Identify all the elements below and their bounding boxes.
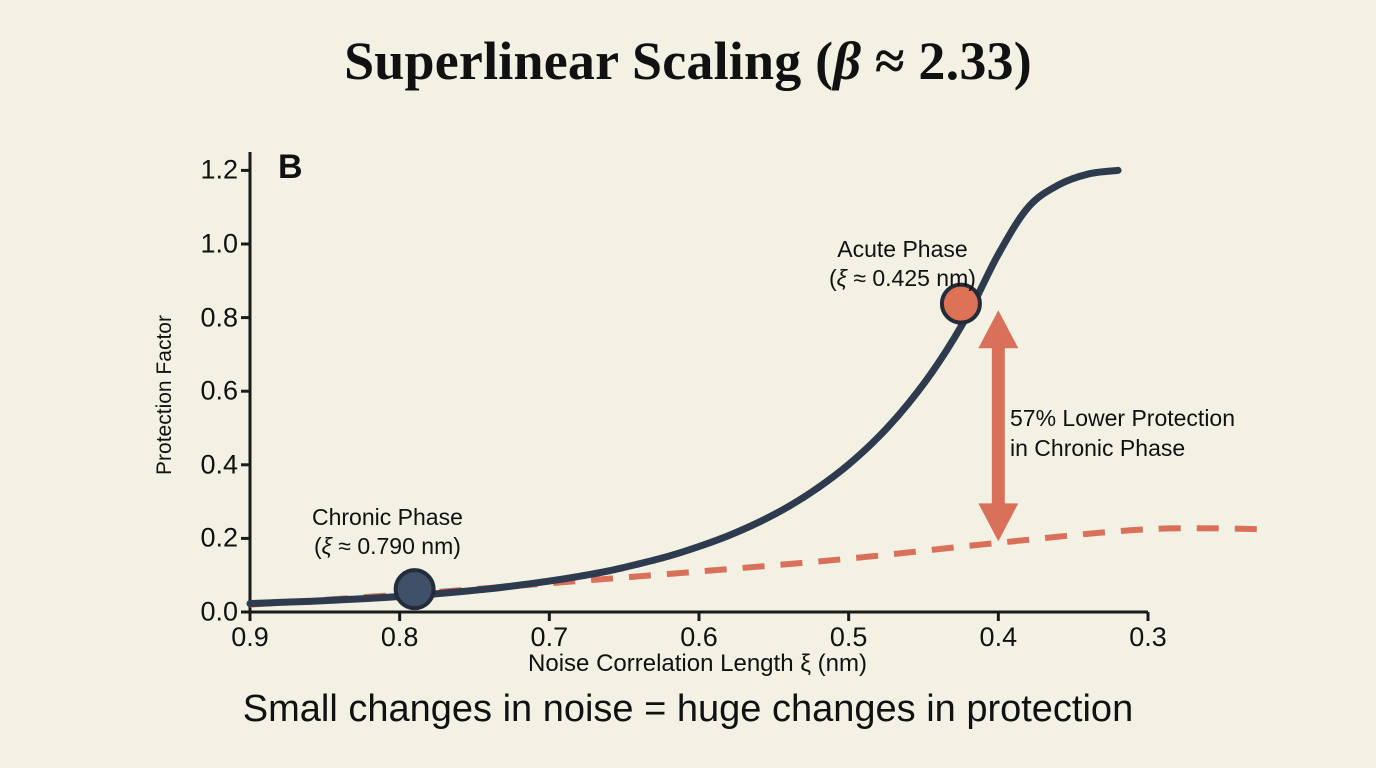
annotation-protection-delta: 57% Lower Protection in Chronic Phase	[1010, 404, 1235, 464]
chronic-phase-marker	[396, 570, 434, 608]
acute-value: ≈ 0.425 nm)	[847, 265, 976, 291]
y-axis-label: Protection Factor	[153, 195, 177, 595]
y-tick-label: 0.4	[200, 449, 238, 480]
x-tick-label: 0.9	[231, 622, 269, 653]
annotation-acute-line2: (ξ ≈ 0.425 nm)	[829, 264, 976, 293]
annotation-delta-line2: in Chronic Phase	[1010, 434, 1235, 464]
phase-markers	[396, 285, 980, 609]
annotation-acute-line1: Acute Phase	[829, 235, 976, 264]
annotation-chronic-line1: Chronic Phase	[312, 503, 463, 532]
panel-label-b: B	[278, 148, 303, 187]
y-tick-label: 0.2	[200, 523, 238, 554]
annotation-delta-line1: 57% Lower Protection	[1010, 404, 1235, 434]
x-tick-label: 0.5	[830, 622, 868, 653]
y-tick-label: 1.2	[200, 155, 238, 186]
y-tick-label: 0.6	[200, 376, 238, 407]
annotation-chronic-phase: Chronic Phase (ξ ≈ 0.790 nm)	[312, 503, 463, 561]
x-tick-label: 0.7	[531, 622, 569, 653]
annotation-chronic-line2: (ξ ≈ 0.790 nm)	[312, 532, 463, 561]
chart-page: Superlinear Scaling (β ≈ 2.33) B 0.00.20…	[0, 0, 1376, 768]
x-tick-label: 0.4	[980, 622, 1018, 653]
annotation-acute-phase: Acute Phase (ξ ≈ 0.425 nm)	[829, 235, 976, 293]
xi-symbol: ξ	[800, 650, 811, 677]
acute-paren-open: (	[829, 265, 837, 291]
arrow-head-down	[978, 503, 1018, 541]
figure-caption: Small changes in noise = huge changes in…	[0, 688, 1376, 731]
chronic-value: ≈ 0.790 nm)	[332, 533, 461, 559]
x-tick-label: 0.8	[381, 622, 419, 653]
xi-symbol: ξ	[837, 265, 847, 291]
arrow-head-up	[978, 310, 1018, 348]
chronic-paren-open: (	[314, 533, 322, 559]
y-tick-label: 0.8	[200, 302, 238, 333]
x-axis-label-suffix: (nm)	[811, 650, 867, 677]
x-tick-label: 0.6	[680, 622, 718, 653]
xi-symbol: ξ	[322, 533, 332, 559]
x-tick-label: 0.3	[1129, 622, 1167, 653]
x-axis-label-prefix: Noise Correlation Length	[528, 650, 800, 677]
y-tick-label: 1.0	[200, 229, 238, 260]
x-axis-label: Noise Correlation Length ξ (nm)	[250, 650, 1145, 678]
